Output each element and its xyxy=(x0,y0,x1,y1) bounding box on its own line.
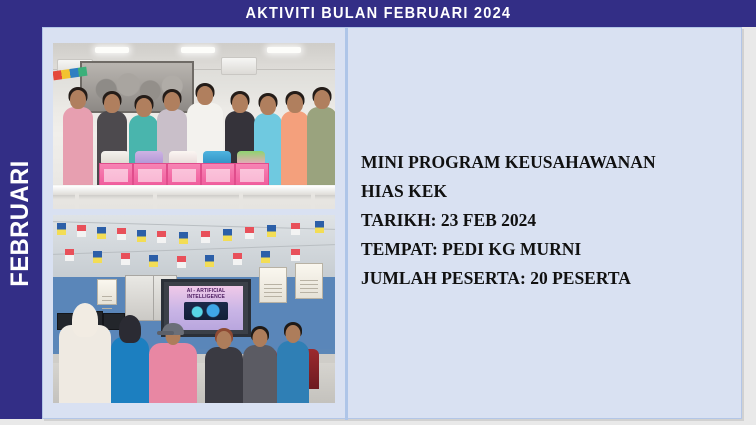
activity-details: MINI PROGRAM KEUSAHAWANAN HIAS KEK TARIK… xyxy=(361,148,723,293)
photo1-table-leg xyxy=(311,193,315,209)
photo2-participant xyxy=(277,341,309,403)
projector-slide: AI - ARTIFICIAL INTELLIGENCE xyxy=(169,286,243,330)
photo1-cake-box xyxy=(235,163,269,186)
detail-line-venue: TEMPAT: PEDI KG MURNI xyxy=(361,235,723,264)
photo1-cake-box xyxy=(99,163,133,186)
detail-line-program-subtitle: HIAS KEK xyxy=(361,177,723,206)
photo2-flag xyxy=(65,249,74,261)
photo1-table-leg xyxy=(75,193,79,209)
photo2-flag xyxy=(233,253,242,265)
photo1-ceiling-light xyxy=(267,47,301,53)
photo2-participant xyxy=(205,347,243,403)
detail-line-participants: JUMLAH PESERTA: 20 PESERTA xyxy=(361,264,723,293)
photo2-flag xyxy=(121,253,130,265)
photo1-table xyxy=(53,185,335,195)
photo1-cake-box xyxy=(201,163,235,186)
photo1-cake-box xyxy=(133,163,167,186)
photo2-flag xyxy=(77,225,86,237)
slide-graphic xyxy=(184,302,228,320)
photo1-room-background xyxy=(53,43,335,209)
column-divider xyxy=(345,28,348,420)
photo2-flag xyxy=(57,223,66,235)
photo2-flag xyxy=(291,223,300,235)
photo2-flag xyxy=(179,232,188,244)
photo2-flag xyxy=(223,229,232,241)
photo2-flag xyxy=(93,251,102,263)
photo2-flag xyxy=(315,221,324,233)
photo1-table-leg xyxy=(239,193,243,209)
photo2-flag xyxy=(201,231,210,243)
photo1-person xyxy=(307,107,335,195)
photo2-certificate xyxy=(295,263,323,299)
photo2-flag xyxy=(97,227,106,239)
cake-decorating-group-photo xyxy=(53,43,335,209)
photo1-person xyxy=(63,107,93,195)
slide-title-line2: INTELLIGENCE xyxy=(187,294,225,300)
photo2-flag xyxy=(291,249,300,261)
photo1-ceiling-light xyxy=(181,47,215,53)
photo2-wall-frame xyxy=(97,279,117,305)
photo2-flag xyxy=(177,256,186,268)
photo2-certificate xyxy=(259,267,287,303)
photo2-room-background: AI - ARTIFICIAL INTELLIGENCE xyxy=(53,215,335,403)
photo2-flag xyxy=(245,227,254,239)
photo2-flag xyxy=(267,225,276,237)
photo2-flag xyxy=(205,255,214,267)
detail-line-date: TARIKH: 23 FEB 2024 xyxy=(361,206,723,235)
photo1-air-conditioner xyxy=(221,57,257,75)
month-tab: FEBRUARI xyxy=(0,27,42,419)
photo1-table-leg xyxy=(153,193,157,209)
photo1-cake-box xyxy=(167,163,201,186)
month-tab-label: FEBRUARI xyxy=(9,160,34,287)
photo1-person xyxy=(281,111,309,195)
detail-line-program-title: MINI PROGRAM KEUSAHAWANAN xyxy=(361,148,723,177)
ai-classroom-session-photo: AI - ARTIFICIAL INTELLIGENCE xyxy=(53,215,335,403)
photo1-ceiling-light xyxy=(95,47,129,53)
slide-canvas: AKTIVITI BULAN FEBRUARI 2024 FEBRUARI xyxy=(0,0,756,425)
photo2-flag xyxy=(117,228,126,240)
photo2-flag xyxy=(149,255,158,267)
header-banner: AKTIVITI BULAN FEBRUARI 2024 xyxy=(0,0,756,27)
photo2-participant xyxy=(149,343,197,403)
page-title: AKTIVITI BULAN FEBRUARI 2024 xyxy=(245,6,511,22)
content-panel: AI - ARTIFICIAL INTELLIGENCE xyxy=(42,27,742,419)
photo2-participant xyxy=(111,337,149,403)
photo2-flag xyxy=(261,251,270,263)
photo2-participant xyxy=(59,325,111,403)
photo2-flag xyxy=(157,231,166,243)
photo2-flag xyxy=(137,230,146,242)
photo-column: AI - ARTIFICIAL INTELLIGENCE xyxy=(53,43,335,403)
photo2-participant xyxy=(243,345,277,403)
